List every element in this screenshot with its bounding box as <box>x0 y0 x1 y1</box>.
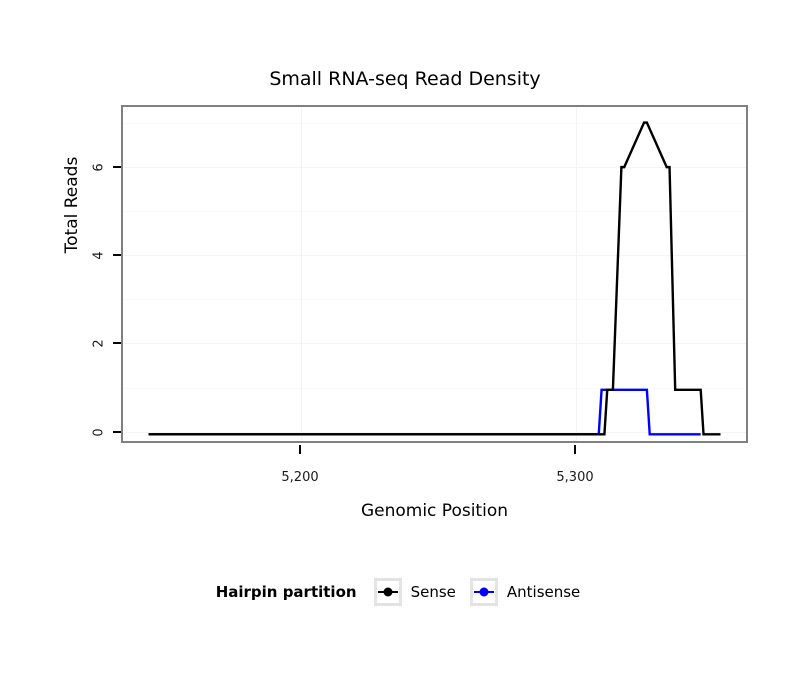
legend-point-glyph <box>479 588 488 597</box>
chart-figure: Small RNA-seq Read Density Total Reads 0… <box>0 0 810 690</box>
legend-title: Hairpin partition <box>216 583 357 601</box>
plot-panel <box>121 105 748 443</box>
y-tick-label-4: 4 <box>92 245 107 267</box>
y-axis-title: Total Reads <box>62 125 82 285</box>
legend-key-antisense-icon <box>470 578 498 606</box>
y-tick-mark-0 <box>113 431 121 433</box>
x-axis-title: Genomic Position <box>121 501 748 521</box>
legend-key-sense-icon <box>374 578 402 606</box>
x-tick-mark-5300 <box>574 445 576 454</box>
series-plot-area <box>123 107 746 441</box>
y-tick-mark-2 <box>113 342 121 344</box>
y-tick-label-2: 2 <box>92 333 107 355</box>
y-tick-label-0: 0 <box>92 422 107 444</box>
legend-item-antisense[interactable]: Antisense <box>470 578 580 606</box>
y-tick-mark-4 <box>113 254 121 256</box>
legend-item-sense[interactable]: Sense <box>374 578 456 606</box>
legend-label-sense: Sense <box>411 583 456 601</box>
x-tick-label-5200: 5,200 <box>260 470 340 485</box>
x-tick-mark-5200 <box>299 445 301 454</box>
series-line-antisense <box>148 390 700 435</box>
legend-label-antisense: Antisense <box>507 583 580 601</box>
legend-point-glyph <box>383 588 392 597</box>
y-tick-label-6: 6 <box>92 157 107 179</box>
x-tick-label-5300: 5,300 <box>535 470 615 485</box>
legend: Hairpin partition Sense Antisense <box>0 578 810 606</box>
chart-title: Small RNA-seq Read Density <box>0 68 810 90</box>
series-line-sense <box>148 123 720 435</box>
y-tick-mark-6 <box>113 166 121 168</box>
